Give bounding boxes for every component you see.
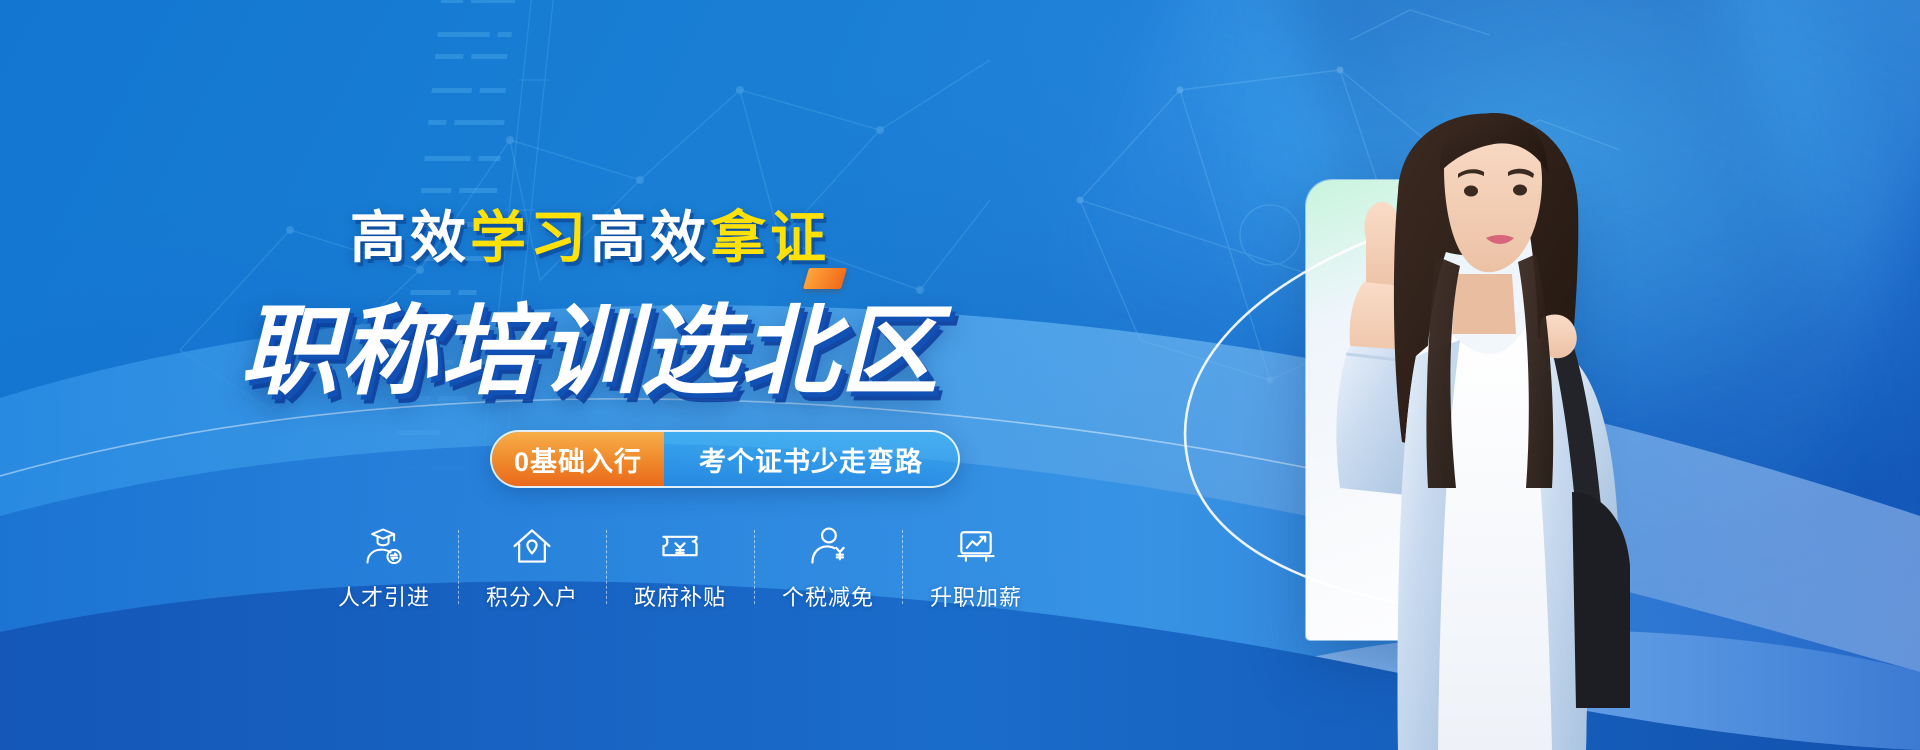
- sub-headline-part-3: 高效: [590, 206, 710, 269]
- house-pin-icon: [510, 524, 554, 568]
- orange-accent-mark-icon: [803, 268, 847, 289]
- feature-item-promotion-raise[interactable]: 升职加薪: [902, 524, 1050, 612]
- feature-item-points-residency[interactable]: 积分入户: [458, 524, 606, 612]
- growth-chart-icon: [954, 524, 998, 568]
- sub-headline: 高效学习高效拿证: [0, 193, 1180, 274]
- sub-headline-part-1: 高效: [350, 206, 470, 269]
- feature-item-tax-reduction[interactable]: 个税减免: [754, 524, 902, 612]
- graduate-person-icon: [362, 524, 406, 568]
- feature-label: 个税减免: [782, 580, 874, 612]
- feature-label: 积分入户: [486, 580, 578, 612]
- cta-left-label[interactable]: 0基础入行: [492, 432, 664, 486]
- feature-list: 人才引进 积分入户 政府补贴: [310, 524, 1050, 634]
- feature-item-government-subsidy[interactable]: 政府补贴: [606, 524, 754, 612]
- promo-banner: 高效学习高效拿证 职称培训选北区 0基础入行 考个证书少走弯路 人才引进: [0, 0, 1920, 750]
- model-photo: [1280, 96, 1640, 750]
- cta-right-label[interactable]: 考个证书少走弯路: [664, 432, 958, 486]
- feature-item-talent-introduction[interactable]: 人才引进: [310, 524, 458, 612]
- feature-label: 政府补贴: [634, 580, 726, 612]
- banner-content: 高效学习高效拿证 职称培训选北区 0基础入行 考个证书少走弯路 人才引进: [0, 0, 1180, 750]
- feature-label: 升职加薪: [930, 580, 1022, 612]
- person-yuan-icon: [806, 524, 850, 568]
- sub-headline-part-2: 学习: [470, 206, 590, 269]
- sub-headline-part-4: 拿证: [710, 206, 830, 269]
- feature-label: 人才引进: [338, 580, 430, 612]
- ticket-yuan-icon: [658, 524, 702, 568]
- main-headline: 职称培训选北区: [0, 272, 1180, 414]
- cta-pill[interactable]: 0基础入行 考个证书少走弯路: [490, 430, 960, 488]
